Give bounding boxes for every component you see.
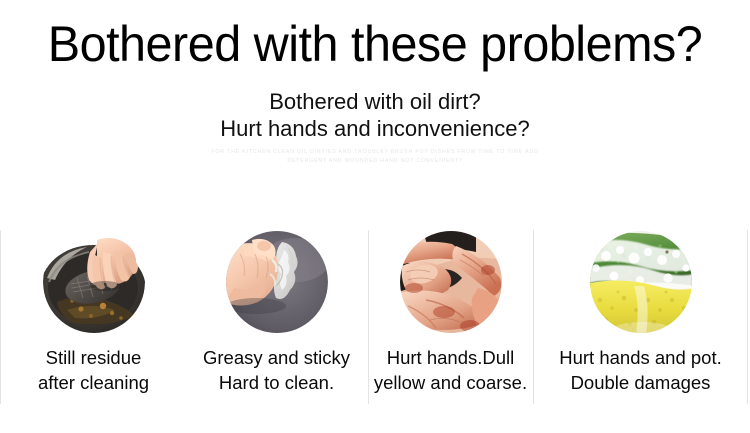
problem-panel-1: Still residue after cleaning [2, 222, 185, 412]
panel-caption-3: Hurt hands.Dull yellow and coarse. [368, 345, 533, 395]
panel-divider-1 [0, 230, 1, 404]
damaged-red-hands-photo [400, 230, 502, 334]
microcopy-line-2: DETERGENT AND WOUNDED HAND NOT CONVENIEN… [0, 157, 750, 166]
panel-caption-4-line-2: Double damages [533, 370, 748, 395]
promo-banner: Bothered with these problems? Bothered w… [0, 0, 750, 433]
greasy-sticky-hand-photo [226, 230, 328, 334]
microcopy-line-1: FOR THE KITCHEN CLEAN OIL DIRTIES AND TR… [0, 148, 750, 157]
panel-caption-1-line-1: Still residue [2, 345, 185, 370]
hand-scrubbing-dirty-pan-photo [43, 230, 145, 334]
subtitle-line-1: Bothered with oil dirt? [0, 88, 750, 115]
panel-caption-4-line-1: Hurt hands and pot. [533, 345, 748, 370]
problem-panel-2: Greasy and sticky Hard to clean. [185, 222, 368, 412]
subtitle-block: Bothered with oil dirt? Hurt hands and i… [0, 88, 750, 142]
panel-caption-1: Still residue after cleaning [2, 345, 185, 395]
green-scourer-yellow-sponge-foam-photo [590, 230, 692, 334]
page-title: Bothered with these problems? [11, 16, 739, 72]
panel-caption-2: Greasy and sticky Hard to clean. [185, 345, 368, 395]
problem-panel-3: Hurt hands.Dull yellow and coarse. [368, 222, 533, 412]
panel-caption-3-line-1: Hurt hands.Dull [368, 345, 533, 370]
problem-panel-4: Hurt hands and pot. Double damages [533, 222, 748, 412]
problem-panels: Still residue after cleaning [0, 222, 750, 412]
panel-caption-2-line-2: Hard to clean. [185, 370, 368, 395]
panel-caption-1-line-2: after cleaning [2, 370, 185, 395]
panel-caption-2-line-1: Greasy and sticky [185, 345, 368, 370]
subtitle-line-2: Hurt hands and inconvenience? [0, 115, 750, 142]
panel-caption-3-line-2: yellow and coarse. [368, 370, 533, 395]
microcopy-block: FOR THE KITCHEN CLEAN OIL DIRTIES AND TR… [0, 148, 750, 166]
panel-caption-4: Hurt hands and pot. Double damages [533, 345, 748, 395]
